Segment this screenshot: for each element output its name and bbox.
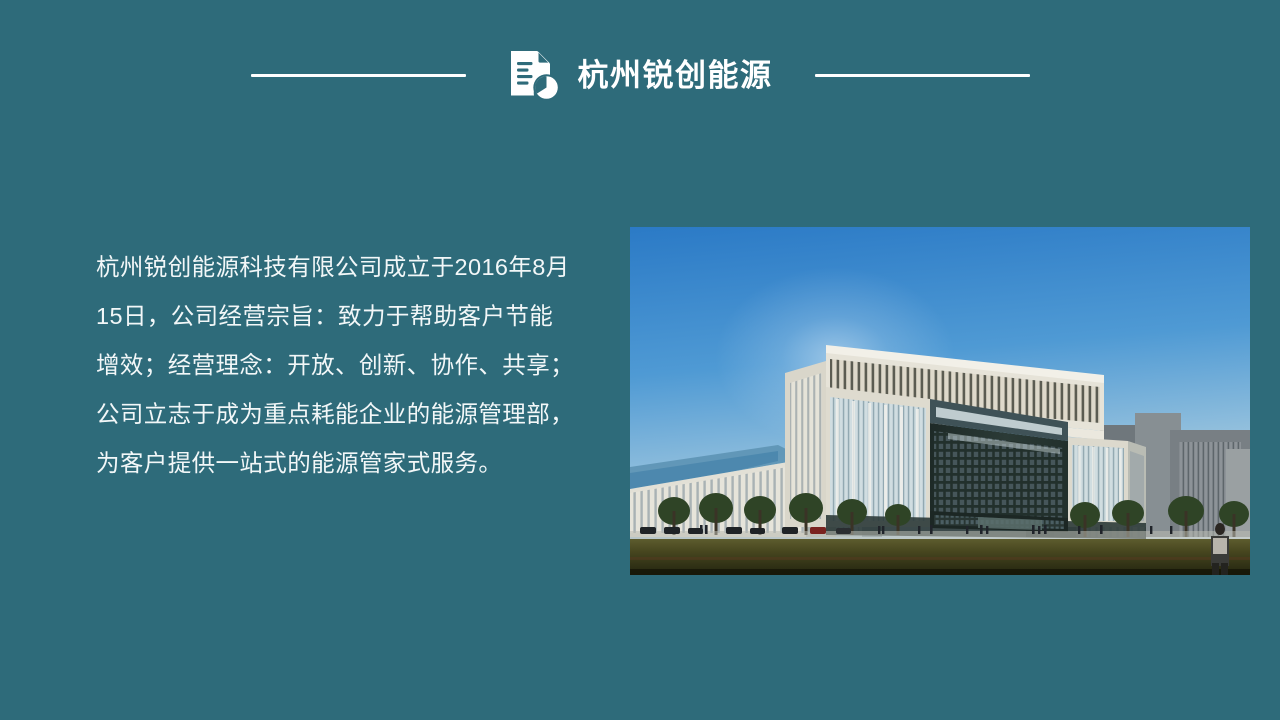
description-line: 15日，公司经营宗旨：致力于帮助客户节能 xyxy=(96,292,596,341)
slide-root: 杭州锐创能源 杭州锐创能源科技有限公司成立于2016年8月 15日，公司经营宗旨… xyxy=(0,0,1280,720)
page-title: 杭州锐创能源 xyxy=(578,60,773,91)
document-chart-icon xyxy=(508,48,560,102)
description-line: 公司立志于成为重点耗能企业的能源管理部， xyxy=(96,390,596,439)
description-line: 杭州锐创能源科技有限公司成立于2016年8月 xyxy=(96,243,596,292)
header-rule-left xyxy=(251,74,466,77)
description-line: 为客户提供一站式的能源管家式服务。 xyxy=(96,439,596,488)
slide-header: 杭州锐创能源 xyxy=(0,46,1280,104)
building-photo xyxy=(630,227,1250,575)
building-illustration xyxy=(630,227,1250,575)
header-rule-right xyxy=(815,74,1030,77)
company-description: 杭州锐创能源科技有限公司成立于2016年8月 15日，公司经营宗旨：致力于帮助客… xyxy=(96,243,596,488)
brand-lockup: 杭州锐创能源 xyxy=(508,48,773,102)
description-line: 增效；经营理念：开放、创新、协作、共享； xyxy=(96,341,596,390)
